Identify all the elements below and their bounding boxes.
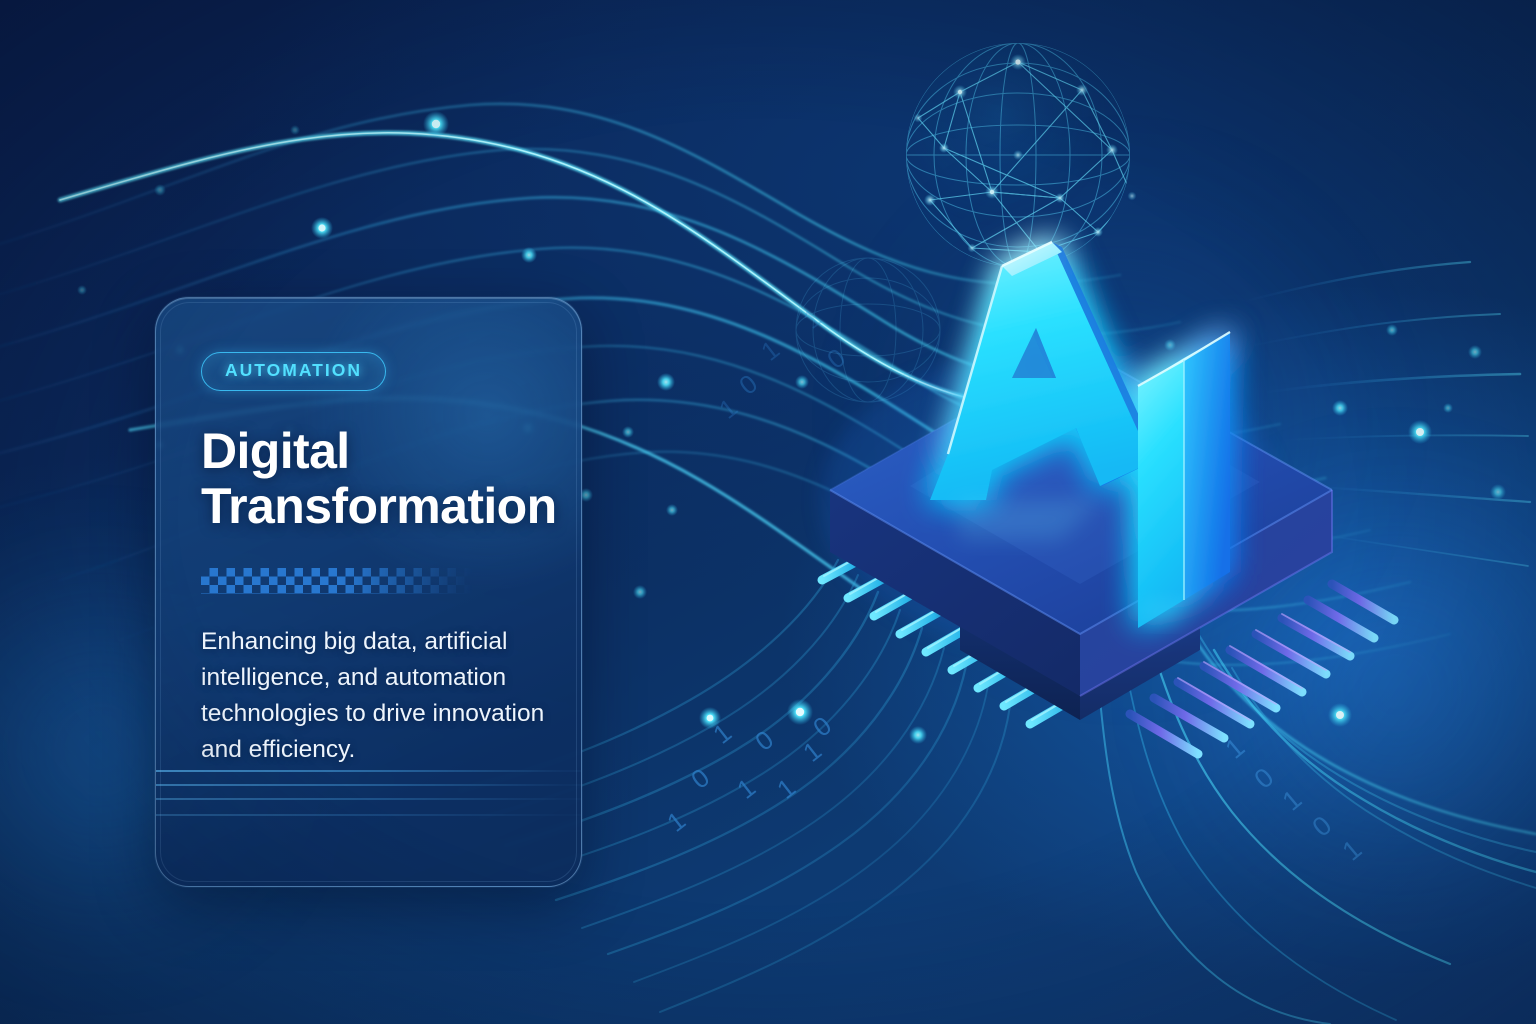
checkerboard-divider bbox=[201, 568, 473, 594]
card-bottom-rules bbox=[156, 770, 581, 824]
category-badge[interactable]: AUTOMATION bbox=[201, 352, 386, 391]
card-description: Enhancing big data, artificial intellige… bbox=[201, 624, 551, 768]
hero-canvas: 1 0 1 1 0 1 1 0 0 1 1 0 1 1 0 1 0 1 bbox=[0, 0, 1536, 1024]
title-line-1: Digital bbox=[201, 423, 350, 479]
ai-chip-graphic bbox=[760, 200, 1400, 800]
info-card: AUTOMATION Digital Transformation Enhanc… bbox=[155, 297, 582, 887]
title-line-2: Transformation bbox=[201, 478, 557, 534]
page-title: Digital Transformation bbox=[201, 424, 551, 534]
